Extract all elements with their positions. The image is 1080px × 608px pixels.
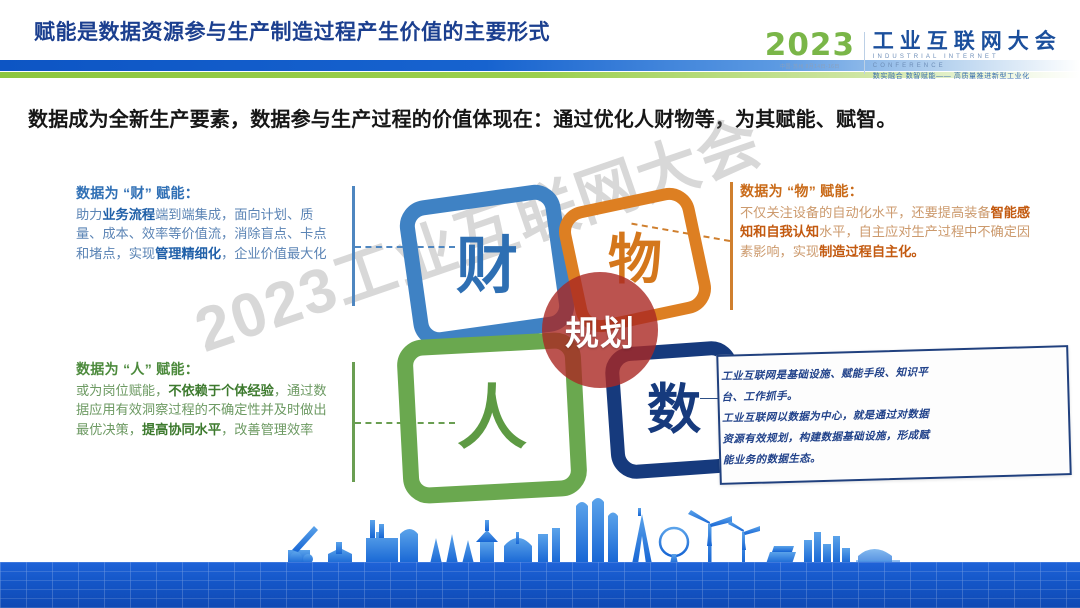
logo-year: 2023: [765, 30, 855, 60]
diagram-center-label: 规划: [565, 306, 635, 355]
logo-divider: [864, 32, 865, 74]
text-block-cai-title: 数据为 “财” 赋能：: [76, 184, 338, 204]
handwritten-note-text: 工业互联网是基础设施、赋能手段、知识平 台、工作抓手。 工业互联网以数据为中心，…: [721, 358, 1063, 471]
ground-grid-overlay: [0, 562, 1080, 608]
text-block-ren-body: 或为岗位赋能，不依赖于个体经验，通过数据应用有效洞察过程的不确定性并及时做出最优…: [76, 381, 338, 440]
logo-name-cn: 工业互联网大会: [873, 30, 1072, 53]
city-skyline-illustration: [280, 498, 900, 564]
text-block-ren-title: 数据为 “人” 赋能：: [76, 360, 338, 380]
diagram-center-planning[interactable]: 规划: [542, 272, 658, 388]
slide-canvas: 赋能是数据资源参与生产制造过程产生价值的主要形式 2023 中国·苏州 8月14…: [0, 0, 1080, 608]
logo-text-group: 工业互联网大会 INDUSTRIAL INTERNET CONFERENCE 数…: [873, 30, 1072, 82]
ground-band: [0, 562, 1080, 608]
logo-year-group: 2023 中国·苏州 8月14日-16日: [760, 30, 860, 70]
conference-logo: 2023 中国·苏州 8月14日-16日 工业互联网大会 INDUSTRIAL …: [760, 30, 1072, 76]
page-title: 赋能是数据资源参与生产制造过程产生价值的主要形式: [34, 16, 550, 46]
accent-line-wu: [730, 182, 733, 310]
logo-tagline: 数实融合 数智赋能—— 高质量推进新型工业化: [873, 72, 1072, 82]
text-block-cai-body: 助力业务流程端到端集成，面向计划、质量、成本、效率等价值流，消除盲点、卡点和堵点…: [76, 205, 338, 264]
diagram-node-ren-label: 人: [457, 383, 527, 453]
text-block-ren: 数据为 “人” 赋能： 或为岗位赋能，不依赖于个体经验，通过数据应用有效洞察过程…: [76, 360, 338, 439]
text-block-wu-body: 不仅关注设备的自动化水平，还要提高装备智能感知和自我认知水平，自主应对生产过程中…: [740, 203, 1040, 262]
lead-statement: 数据成为全新生产要素，数据参与生产过程的价值体现在：通过优化人财物等，为其赋能、…: [28, 106, 1058, 134]
diagram-node-cai-label: 财: [456, 235, 518, 297]
text-block-cai: 数据为 “财” 赋能： 助力业务流程端到端集成，面向计划、质量、成本、效率等价值…: [76, 184, 338, 263]
note-line-1-lead: 工业互联网是基础设施、赋能手段、知识平: [721, 367, 928, 382]
text-block-wu: 数据为 “物” 赋能： 不仅关注设备的自动化水平，还要提高装备智能感知和自我认知…: [740, 182, 1040, 261]
logo-date: 中国·苏州 8月14日-16日: [780, 63, 840, 70]
diagram-node-shu-label: 数: [647, 383, 701, 437]
logo-name-en: INDUSTRIAL INTERNET CONFERENCE: [873, 53, 1072, 71]
text-block-wu-title: 数据为 “物” 赋能：: [740, 182, 1040, 202]
